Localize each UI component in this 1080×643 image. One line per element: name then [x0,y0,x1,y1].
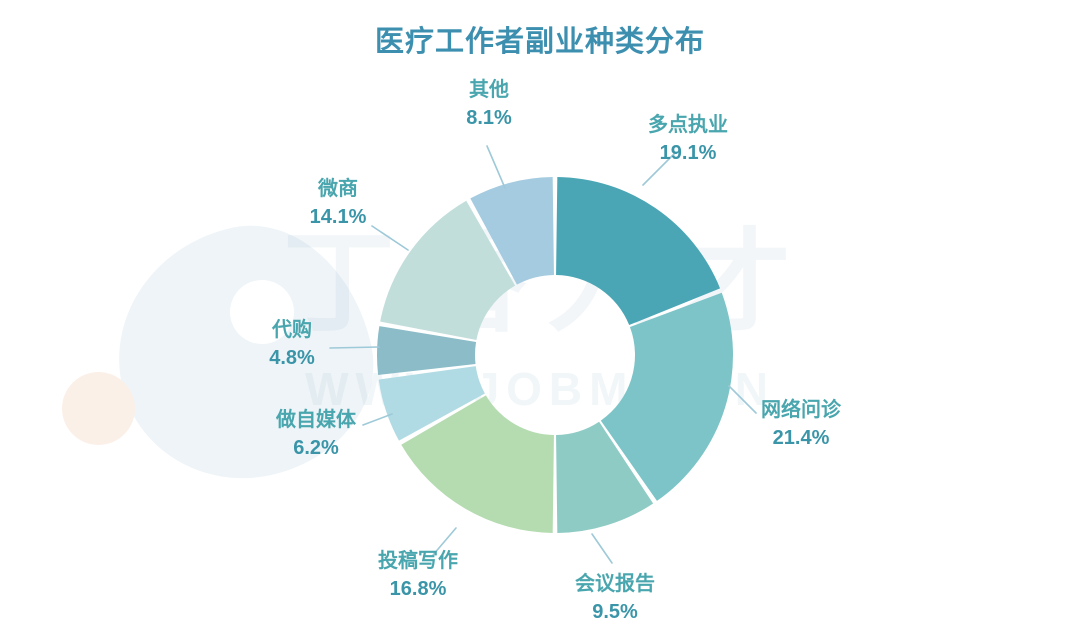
slice-label-huiyibaogao: 会议报告 9.5% [532,572,698,625]
slice-label-duodianzhiye: 多点执业 19.1% [608,113,768,166]
slice-label-value: 21.4% [716,426,886,452]
slice-label-wangluowenzhen: 网络问诊 21.4% [716,398,886,451]
slice-label-name: 投稿写作 [330,549,506,575]
background-peach-circle [62,372,135,445]
slice-label-name: 网络问诊 [716,398,886,424]
slice-label-tougaoxiezuo: 投稿写作 16.8% [330,549,506,602]
slice-label-value: 8.1% [420,106,558,132]
slice-label-qita: 其他 8.1% [420,78,558,131]
slice-label-name: 代购 [222,318,362,344]
slice-label-name: 多点执业 [608,113,768,139]
donut-slices [377,177,733,533]
slice-label-daigou: 代购 4.8% [222,318,362,371]
slice-label-value: 4.8% [222,346,362,372]
slice-label-name: 其他 [420,78,558,104]
slice-label-name: 会议报告 [532,572,698,598]
slice-label-value: 14.1% [268,205,408,231]
page-title: 医疗工作者副业种类分布 [0,18,1080,60]
donut-chart [370,170,740,540]
slice-label-zuozimeiti: 做自媒体 6.2% [228,408,404,461]
slice-label-name: 做自媒体 [228,408,404,434]
slice-label-value: 9.5% [532,600,698,626]
slice-label-value: 16.8% [330,577,506,603]
slice-label-value: 19.1% [608,141,768,167]
slice-label-weishang: 微商 14.1% [268,177,408,230]
donut-chart-svg [370,170,740,540]
slice-label-value: 6.2% [228,436,404,462]
slice-label-name: 微商 [268,177,408,203]
